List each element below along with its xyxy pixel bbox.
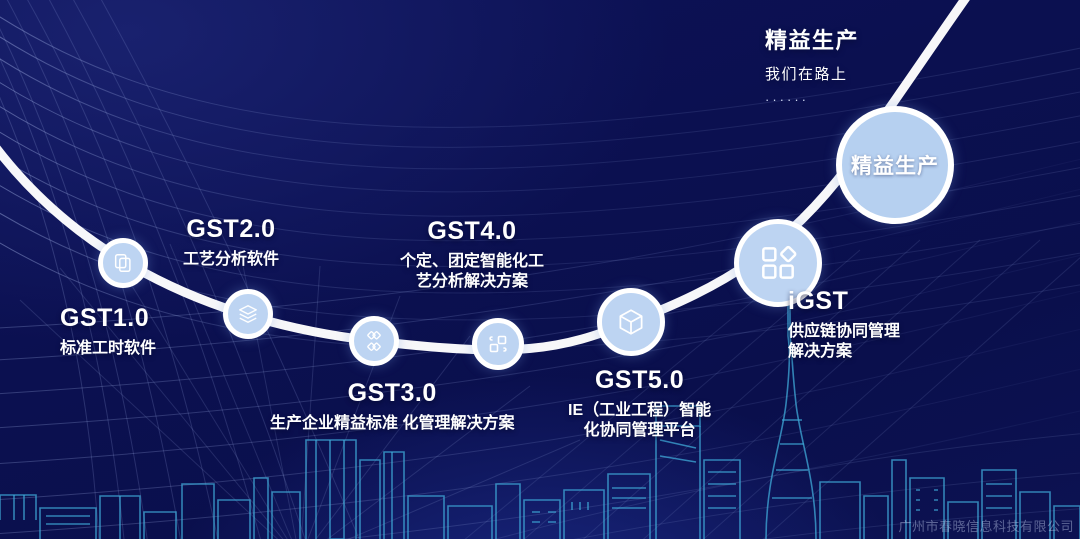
milestone-desc-line1-igst: 供应链协同管理	[788, 322, 900, 342]
milestone-label-gst1: GST1.0标准工时软件	[60, 305, 156, 359]
milestone-node-gst1[interactable]	[98, 238, 148, 288]
milestone-label-gst3: GST3.0生产企业精益标准 化管理解决方案	[270, 380, 514, 434]
hero-dots: ······	[765, 92, 859, 107]
documents-icon	[112, 252, 134, 274]
milestone-title-gst3: GST3.0	[270, 380, 514, 408]
dashboard-grid-icon	[758, 243, 798, 283]
milestone-title-gst4: GST4.0	[400, 218, 544, 246]
summit-node[interactable]: 精益生产	[836, 106, 954, 224]
milestone-desc-gst4: 个定、团定智能化工艺分析解决方案	[400, 252, 544, 293]
milestone-title-igst: iGST	[788, 288, 900, 316]
milestone-title-gst2: GST2.0	[183, 216, 279, 244]
hero-subtitle: 我们在路上	[765, 63, 859, 84]
cube-icon	[616, 307, 646, 337]
milestone-label-igst: iGST供应链协同管理解决方案	[788, 288, 900, 362]
milestone-desc-line2-gst4: 艺分析解决方案	[400, 272, 544, 292]
milestone-desc-line-gst3: 生产企业精益标准 化管理解决方案	[270, 414, 514, 434]
milestone-node-gst2[interactable]	[223, 289, 273, 339]
milestone-label-gst4: GST4.0个定、团定智能化工艺分析解决方案	[400, 218, 544, 292]
milestone-node-gst3[interactable]	[349, 316, 399, 366]
milestone-desc-gst1: 标准工时软件	[60, 339, 156, 359]
milestone-title-gst5: GST5.0	[568, 367, 711, 395]
milestone-desc-line1-gst5: IE（工业工程）智能	[568, 401, 711, 421]
milestone-label-gst2: GST2.0工艺分析软件	[183, 216, 279, 270]
milestone-node-gst4[interactable]	[472, 318, 524, 370]
roadmap-poster: 精益生产 我们在路上 ······ 精益生产 GST1.0标准工时软件GST2.…	[0, 0, 1080, 539]
milestone-label-gst5: GST5.0IE（工业工程）智能化协同管理平台	[568, 367, 711, 441]
milestone-desc-gst3: 生产企业精益标准 化管理解决方案	[270, 414, 514, 434]
milestone-desc-line1-gst4: 个定、团定智能化工	[400, 252, 544, 272]
milestone-desc-gst5: IE（工业工程）智能化协同管理平台	[568, 401, 711, 442]
hero-title: 精益生产	[765, 28, 859, 54]
diamond-grid-icon	[363, 330, 385, 352]
layers-icon	[237, 303, 259, 325]
hero-text-block: 精益生产 我们在路上 ······	[765, 28, 859, 107]
milestone-node-gst5[interactable]	[597, 288, 665, 356]
milestone-desc-line-gst2: 工艺分析软件	[183, 250, 279, 270]
milestone-title-gst1: GST1.0	[60, 305, 156, 333]
milestone-desc-gst2: 工艺分析软件	[183, 250, 279, 270]
qr-scan-icon	[486, 332, 510, 356]
milestone-desc-igst: 供应链协同管理解决方案	[788, 322, 900, 363]
company-watermark: 广州市春晓信息科技有限公司	[898, 516, 1074, 535]
milestone-desc-line2-gst5: 化协同管理平台	[568, 421, 711, 441]
milestone-desc-line-gst1: 标准工时软件	[60, 339, 156, 359]
milestone-desc-line2-igst: 解决方案	[788, 342, 900, 362]
summit-node-label: 精益生产	[851, 150, 939, 180]
